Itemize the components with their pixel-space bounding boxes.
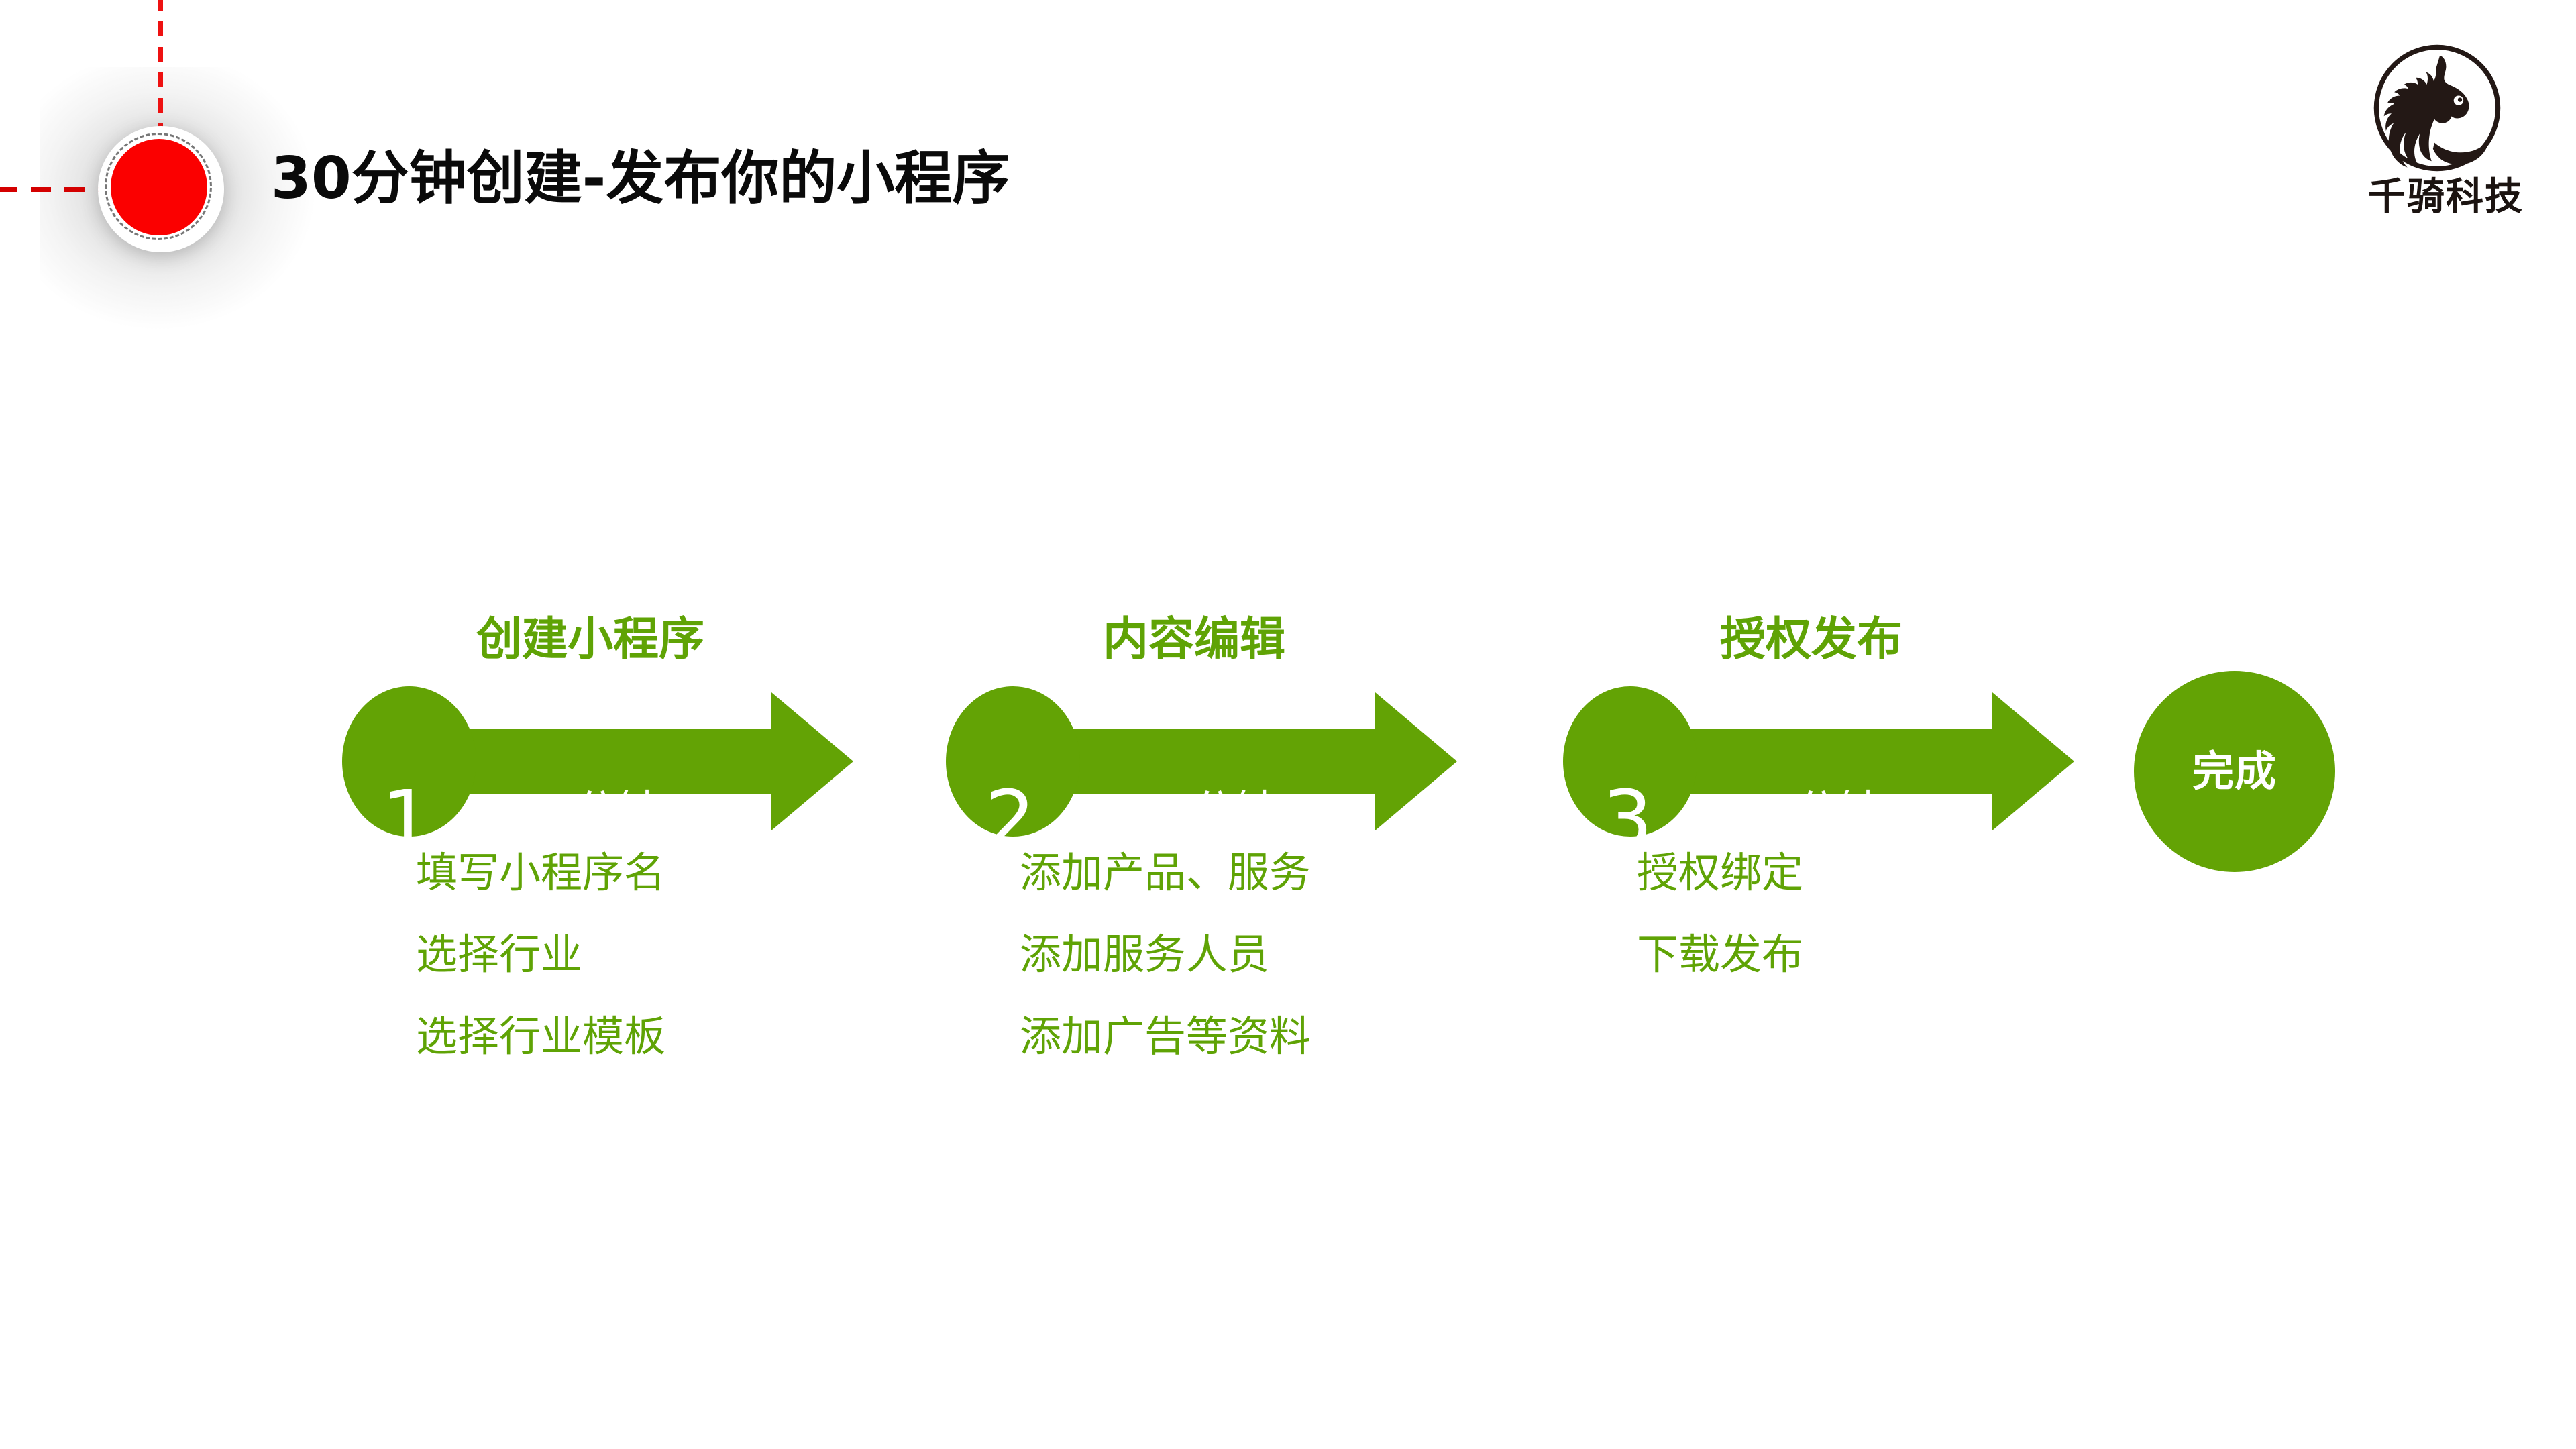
step-arrow: 1 1分钟 [335,684,872,839]
step-bullets: 填写小程序名 选择行业 选择行业模板 [416,852,885,1097]
process-step-2[interactable]: 内容编辑 2 24分钟 添加产品、服务 添加服务人员 添加广告等资料 [939,604,1489,1114]
list-item: 添加产品、服务 [1020,852,1489,894]
page-title: 30分钟创建-发布你的小程序 [271,150,1010,207]
list-item: 添加服务人员 [1020,934,1489,975]
process-step-1[interactable]: 创建小程序 1 1分钟 填写小程序名 选择行业 选择行业模板 [335,604,885,1114]
slide-canvas: 30分钟创建-发布你的小程序 千骑科技 创建小程序 1 1分钟 [0,0,2576,1449]
step-arrow: 2 24分钟 [939,684,1476,839]
step-bullets: 授权绑定 下载发布 [1637,852,2106,1016]
list-item: 选择行业 [416,934,885,975]
arrow-right-icon [335,684,872,839]
brand-logo: 千骑科技 [2368,39,2536,216]
finish-badge[interactable]: 完成 [2134,671,2335,872]
process-step-3[interactable]: 授权发布 3 5分钟 授权绑定 下载发布 [1556,604,2106,1114]
brand-name: 千骑科技 [2368,178,2536,216]
step-title: 内容编辑 [939,617,1449,663]
finish-label: 完成 [2192,751,2277,792]
step-title: 创建小程序 [335,617,845,663]
arrow-right-icon [939,684,1476,839]
zebra-head-circle-logo-icon [2368,39,2506,177]
list-item: 填写小程序名 [416,852,885,894]
list-item: 添加广告等资料 [1020,1016,1489,1057]
step-title: 授权发布 [1556,617,2066,663]
step-arrow: 3 5分钟 [1556,684,2093,839]
list-item: 下载发布 [1637,934,2106,975]
red-circle-marker-icon [111,139,207,235]
step-bullets: 添加产品、服务 添加服务人员 添加广告等资料 [1020,852,1489,1097]
list-item: 授权绑定 [1637,852,2106,894]
list-item: 选择行业模板 [416,1016,885,1057]
arrow-right-icon [1556,684,2093,839]
